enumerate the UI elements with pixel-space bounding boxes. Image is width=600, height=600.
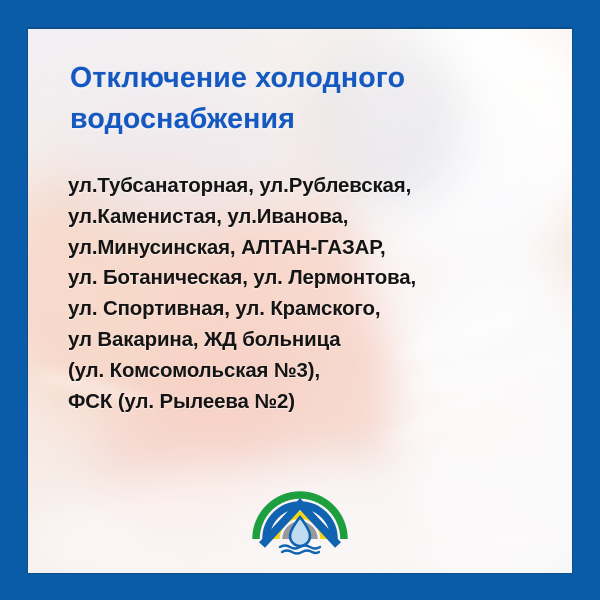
address-line: ул. Ботаническая, ул. Лермонтова, — [68, 263, 558, 294]
title-line-2: водоснабжения — [70, 99, 530, 140]
logo-droplet — [290, 517, 310, 546]
poster-content: Отключение холодного водоснабжения ул.Ту… — [28, 29, 572, 573]
address-line: ул.Минусинская, АЛТАН-ГАЗАР, — [68, 233, 558, 264]
address-list: ул.Тубсанаторная, ул.Рублевская, ул.Каме… — [68, 171, 558, 417]
photo-canvas: Отключение холодного водоснабжения ул.Ту… — [28, 29, 572, 573]
address-line: ул. Спортивная, ул. Крамского, — [68, 294, 558, 325]
title-line-1: Отключение холодного — [70, 58, 530, 99]
poster: Отключение холодного водоснабжения ул.Ту… — [0, 0, 600, 600]
address-line: (ул. Комсомольская №3), — [68, 356, 558, 387]
address-line: ул.Каменистая, ул.Иванова, — [68, 202, 558, 233]
address-line: ул.Тубсанаторная, ул.Рублевская, — [68, 171, 558, 202]
logo-waves — [280, 546, 320, 554]
water-utility-logo — [250, 457, 350, 557]
address-line: ул Вакарина, ЖД больница — [68, 325, 558, 356]
poster-title: Отключение холодного водоснабжения — [70, 58, 530, 140]
address-line: ФСК (ул. Рылеева №2) — [68, 387, 558, 418]
